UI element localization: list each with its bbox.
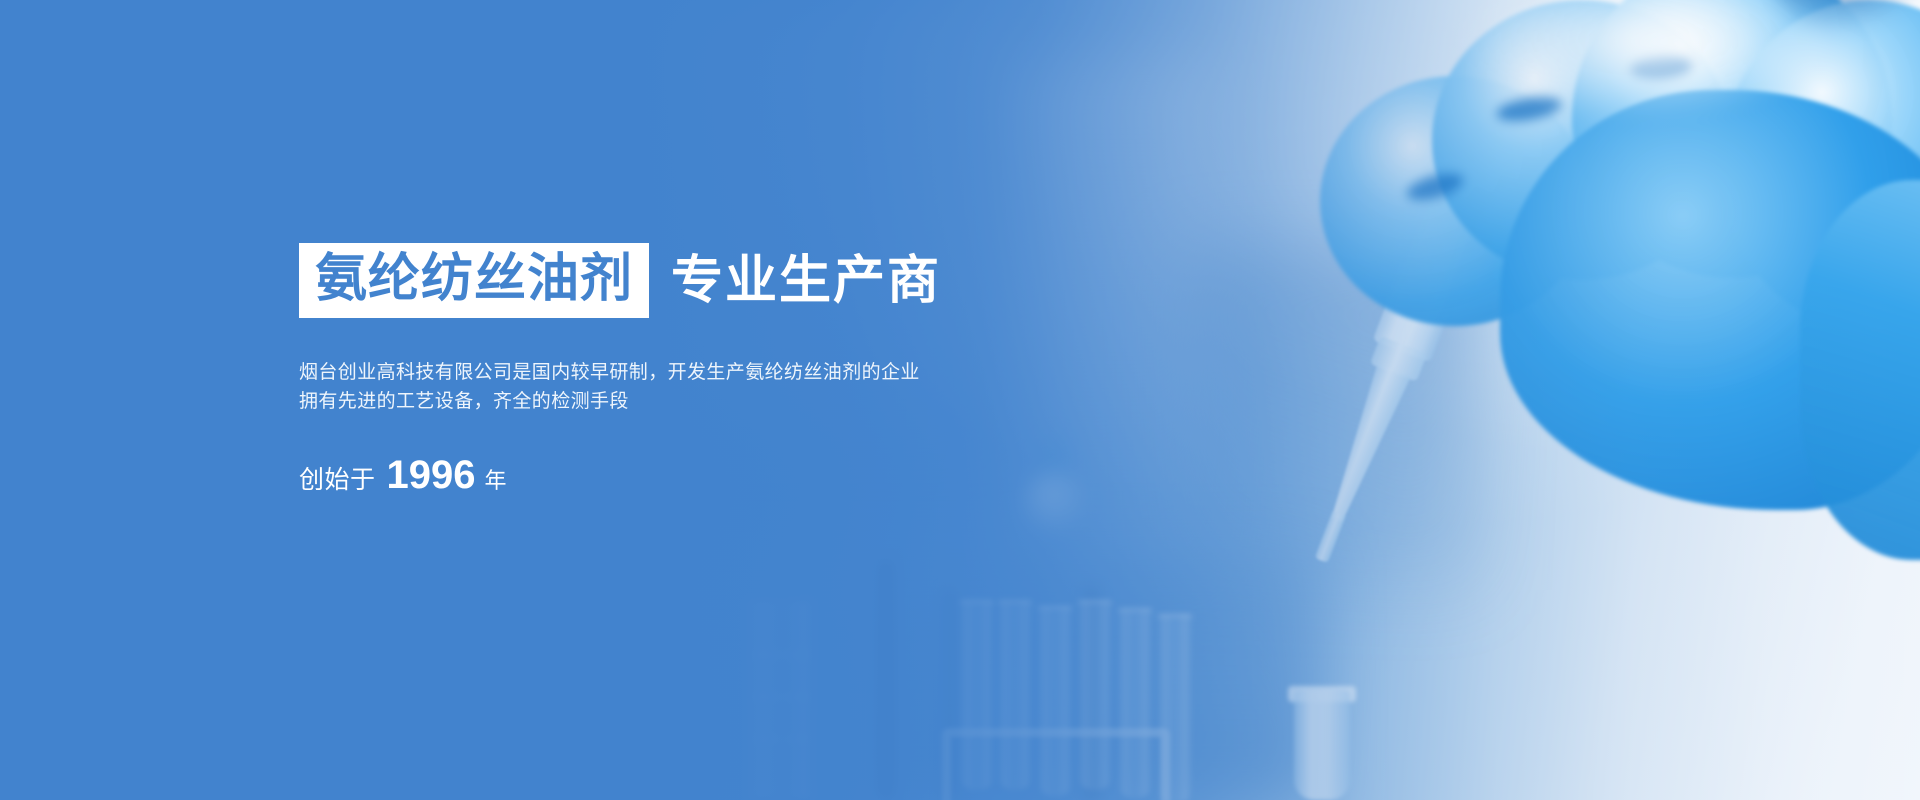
founded-prefix-label: 创始于 bbox=[299, 460, 376, 496]
headline-highlight-box: 氨纶纺丝油剂 bbox=[299, 243, 649, 318]
subcopy-line-2: 拥有先进的工艺设备，齐全的检测手段 bbox=[299, 388, 1259, 417]
pipette-tip bbox=[1315, 511, 1346, 563]
gloved-hand bbox=[1200, 0, 1920, 500]
micro-tube bbox=[1294, 690, 1350, 800]
banner-subcopy: 烟台创业高科技有限公司是国内较早研制，开发生产氨纶纺丝油剂的企业 拥有先进的工艺… bbox=[299, 359, 1259, 417]
founded-year-block: 创始于 1996 年 bbox=[299, 453, 1259, 498]
test-tube-rack-frame bbox=[942, 728, 1170, 800]
graduated-cylinder bbox=[745, 600, 815, 800]
lab-stand-rod-1 bbox=[878, 560, 894, 800]
founded-suffix-label: 年 bbox=[485, 463, 508, 495]
headline-suffix: 专业生产商 bbox=[671, 255, 941, 307]
banner-headline: 氨纶纺丝油剂 专业生产商 bbox=[299, 243, 1259, 318]
founded-year-value: 1996 bbox=[387, 453, 476, 498]
subcopy-line-1: 烟台创业高科技有限公司是国内较早研制，开发生产氨纶纺丝油剂的企业 bbox=[299, 359, 1259, 388]
banner-content: 氨纶纺丝油剂 专业生产商 烟台创业高科技有限公司是国内较早研制，开发生产氨纶纺丝… bbox=[299, 243, 1259, 498]
hero-banner: 氨纶纺丝油剂 专业生产商 烟台创业高科技有限公司是国内较早研制，开发生产氨纶纺丝… bbox=[0, 0, 1920, 800]
